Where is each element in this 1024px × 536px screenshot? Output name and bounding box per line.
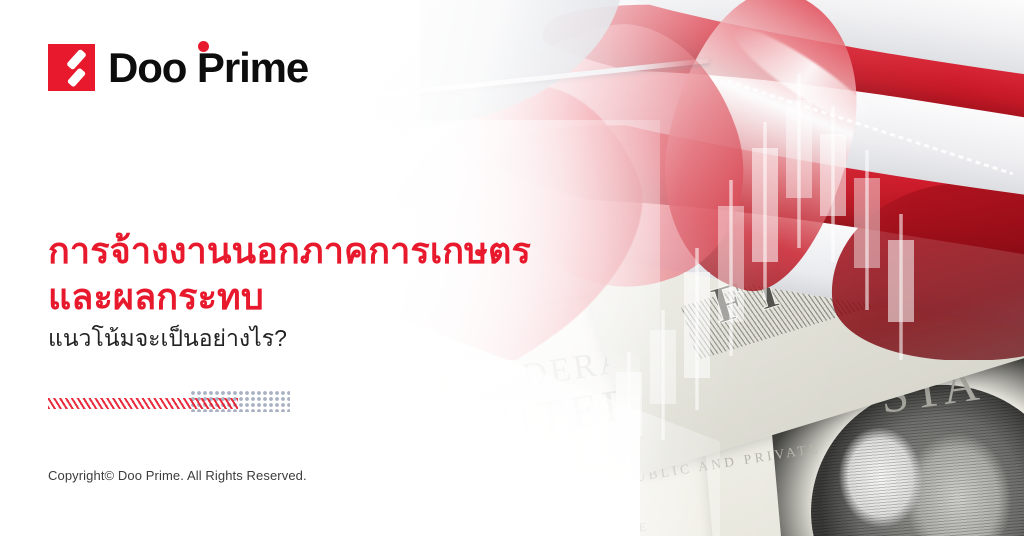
divider-hatch-bar bbox=[48, 398, 238, 409]
brand-logo[interactable]: Doo Prime bbox=[48, 44, 308, 91]
page-subtitle: แนวโน้มจะเป็นอย่างไร? bbox=[48, 324, 287, 354]
logo-accent-dot-icon bbox=[198, 41, 209, 52]
headline-line-1: การจ้างงานนอกภาคการเกษตร bbox=[48, 230, 531, 271]
logo-slash-lower bbox=[67, 67, 86, 87]
doo-prime-logo-mark-icon bbox=[48, 44, 95, 91]
copyright-notice: Copyright© Doo Prime. All Rights Reserve… bbox=[48, 468, 307, 483]
page-title: การจ้างงานนอกภาคการเกษตร และผลกระทบ bbox=[48, 228, 608, 319]
decorative-divider bbox=[48, 392, 288, 412]
brand-wordmark: Doo Prime bbox=[108, 47, 308, 89]
headline-line-2: และผลกระทบ bbox=[48, 274, 608, 320]
logo-slash-upper bbox=[66, 49, 87, 71]
banner-content: Doo Prime การจ้างงานนอกภาคการเกษตร และผล… bbox=[0, 0, 1024, 536]
marketing-banner: TWENTY DERAL UNITED STA STA THIS NOTE IS… bbox=[0, 0, 1024, 536]
